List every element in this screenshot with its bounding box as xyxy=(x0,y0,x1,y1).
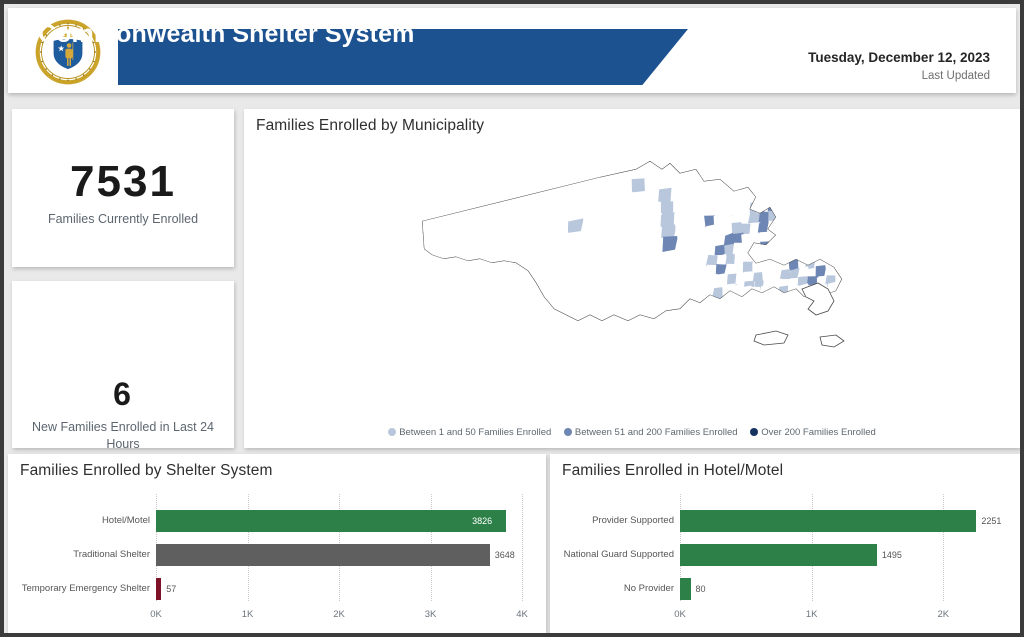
map-municipality[interactable] xyxy=(847,283,859,294)
map-municipality[interactable] xyxy=(820,335,844,347)
x-tick-label: 2K xyxy=(938,609,950,620)
legend-swatch-high-icon xyxy=(750,428,758,436)
bar-row[interactable]: Hotel/Motel3826 xyxy=(8,508,538,534)
map-municipality[interactable] xyxy=(787,219,797,230)
map-municipality[interactable] xyxy=(814,217,824,227)
legend-swatch-mid-icon xyxy=(564,428,572,436)
map-municipality[interactable] xyxy=(769,303,781,315)
map-municipality[interactable] xyxy=(446,181,461,193)
map-municipality[interactable] xyxy=(836,310,847,321)
map-municipality[interactable] xyxy=(784,189,795,201)
dashboard-header: Commonwealth Shelter System Tuesday, Dec… xyxy=(8,8,1016,93)
map-municipality[interactable] xyxy=(473,189,488,203)
map-municipality[interactable] xyxy=(769,313,780,324)
map-municipality[interactable] xyxy=(821,227,834,239)
chart-title: Families Enrolled by Shelter System xyxy=(20,462,272,480)
map-municipality[interactable] xyxy=(606,180,620,195)
map-municipality[interactable] xyxy=(512,176,528,190)
map-municipality[interactable] xyxy=(740,314,754,325)
map-municipality[interactable] xyxy=(706,235,716,247)
map-municipality[interactable] xyxy=(806,237,816,249)
map-municipality[interactable] xyxy=(557,244,573,259)
map-municipality[interactable] xyxy=(717,273,728,285)
map-municipality[interactable] xyxy=(779,295,790,305)
map-municipality[interactable] xyxy=(731,313,742,324)
bar-chart-hotel-motel[interactable]: Provider Supported2251National Guard Sup… xyxy=(550,488,1012,637)
legend-item: Between 51 and 200 Families Enrolled xyxy=(564,427,738,438)
bar[interactable] xyxy=(156,544,490,566)
map-municipality[interactable] xyxy=(779,302,790,313)
map-municipality[interactable] xyxy=(813,206,823,218)
map-municipality[interactable] xyxy=(802,209,814,221)
map-municipality[interactable] xyxy=(821,197,831,210)
map-municipality[interactable] xyxy=(804,197,815,209)
map-municipality[interactable] xyxy=(785,209,796,222)
bar-value-label: 80 xyxy=(696,576,706,602)
map-municipality[interactable] xyxy=(757,191,768,205)
map-municipality[interactable] xyxy=(804,227,817,239)
x-tick-label: 4K xyxy=(516,609,528,620)
map-municipality[interactable] xyxy=(775,200,787,213)
map-municipality[interactable] xyxy=(754,331,788,345)
map-municipality[interactable] xyxy=(607,204,621,219)
bar-row[interactable]: Traditional Shelter3648 xyxy=(8,542,538,568)
map-municipality[interactable] xyxy=(567,208,582,221)
x-tick-label: 0K xyxy=(150,609,162,620)
map-municipality[interactable] xyxy=(768,200,777,212)
map-municipality[interactable] xyxy=(477,250,493,263)
map-municipality[interactable] xyxy=(811,187,822,199)
map-municipality[interactable] xyxy=(797,320,811,331)
map-municipality[interactable] xyxy=(687,211,702,225)
map-municipality[interactable] xyxy=(788,248,800,260)
bar-category-label: National Guard Supported xyxy=(550,542,674,568)
map-municipality[interactable] xyxy=(814,247,825,258)
map-municipality[interactable] xyxy=(715,245,726,256)
map-municipality[interactable] xyxy=(751,303,761,314)
map-municipality[interactable] xyxy=(846,290,858,303)
map-municipality[interactable] xyxy=(823,246,836,258)
map-municipality[interactable] xyxy=(704,287,714,298)
map-municipality[interactable] xyxy=(835,291,847,302)
map-municipality[interactable] xyxy=(824,256,836,268)
map-municipality[interactable] xyxy=(460,192,475,205)
legend-item: Between 1 and 50 Families Enrolled xyxy=(388,427,551,438)
map-municipality[interactable] xyxy=(835,300,848,312)
map-municipality[interactable] xyxy=(462,227,478,241)
bar[interactable] xyxy=(680,544,877,566)
map-municipality[interactable] xyxy=(777,219,789,232)
map-municipality[interactable] xyxy=(551,184,567,199)
bar-row[interactable]: Provider Supported2251 xyxy=(550,508,1012,534)
map-municipality[interactable] xyxy=(788,239,798,249)
map-municipality[interactable] xyxy=(794,227,807,241)
bar-row[interactable]: Temporary Emergency Shelter57 xyxy=(8,576,538,602)
map-municipality[interactable] xyxy=(846,308,856,320)
bar[interactable] xyxy=(680,510,976,532)
kpi-label: New Families Enrolled in Last 24 Hours xyxy=(26,419,220,453)
map-municipality[interactable] xyxy=(621,204,636,218)
map-municipality[interactable] xyxy=(823,235,835,248)
map-municipality[interactable] xyxy=(644,178,659,192)
page-title: Commonwealth Shelter System xyxy=(38,20,414,49)
x-axis: 0K1K2K xyxy=(550,609,1012,623)
map-municipality[interactable] xyxy=(531,247,545,261)
map-municipality[interactable] xyxy=(419,181,434,196)
bar-value-label: 3648 xyxy=(495,542,515,568)
kpi-value: 7531 xyxy=(12,157,234,207)
map-municipality[interactable] xyxy=(780,249,790,260)
bar-row[interactable]: National Guard Supported1495 xyxy=(550,542,1012,568)
map-municipality[interactable] xyxy=(760,322,771,333)
map-municipality[interactable] xyxy=(826,320,838,331)
map-municipality[interactable] xyxy=(538,174,554,188)
map-municipality[interactable] xyxy=(820,207,833,220)
map-municipality[interactable] xyxy=(798,303,809,314)
map-municipality[interactable] xyxy=(815,237,825,249)
map-municipality[interactable] xyxy=(485,177,501,191)
map-panel: Families Enrolled by Municipality Betwee… xyxy=(244,109,1020,448)
map-municipality[interactable] xyxy=(722,324,734,334)
map-municipality[interactable] xyxy=(464,240,480,255)
bar-row[interactable]: No Provider80 xyxy=(550,576,1012,602)
map-municipality[interactable] xyxy=(723,296,734,308)
map-municipality[interactable] xyxy=(816,319,828,329)
legend-label: Over 200 Families Enrolled xyxy=(761,427,876,438)
kpi-value: 6 xyxy=(12,376,234,413)
dashboard-root: Commonwealth Shelter System Tuesday, Dec… xyxy=(0,0,1024,637)
bar[interactable] xyxy=(680,578,691,600)
x-tick-label: 0K xyxy=(674,609,686,620)
bar-category-label: Provider Supported xyxy=(550,508,674,534)
map-municipality[interactable] xyxy=(624,240,639,254)
map-municipality[interactable] xyxy=(595,242,611,256)
map-municipality[interactable] xyxy=(778,239,789,251)
map-municipality[interactable] xyxy=(760,295,770,307)
map-municipality[interactable] xyxy=(795,209,804,221)
map-municipality[interactable] xyxy=(776,211,788,223)
map-municipality[interactable] xyxy=(761,313,772,324)
map-municipality[interactable] xyxy=(608,229,624,242)
map-municipality[interactable] xyxy=(514,211,530,224)
x-axis: 0K1K2K3K4K xyxy=(8,609,538,623)
map-municipality[interactable] xyxy=(805,246,818,258)
bar-value-label: 2251 xyxy=(981,508,1001,534)
map-municipality[interactable] xyxy=(550,172,566,187)
map-municipality[interactable] xyxy=(476,225,491,240)
map-municipality[interactable] xyxy=(504,236,518,250)
map-municipality[interactable] xyxy=(420,194,436,210)
map-municipality[interactable] xyxy=(721,304,733,316)
map-legend: Between 1 and 50 Families Enrolled Betwe… xyxy=(244,427,1020,438)
map-municipality[interactable] xyxy=(569,231,585,246)
map-municipality[interactable] xyxy=(779,311,790,324)
bar[interactable] xyxy=(156,510,506,532)
map-municipality[interactable] xyxy=(713,323,724,336)
kpi-card-families-enrolled: 7531 Families Currently Enrolled xyxy=(12,109,234,267)
map-municipality[interactable] xyxy=(777,229,789,242)
last-updated-block: Tuesday, December 12, 2023 Last Updated xyxy=(730,50,990,86)
map-municipality[interactable] xyxy=(846,300,856,311)
map-municipality[interactable] xyxy=(423,230,438,243)
plot-area: Provider Supported2251National Guard Sup… xyxy=(550,494,1012,601)
map-municipality[interactable] xyxy=(759,304,772,313)
map-municipality[interactable] xyxy=(512,186,528,201)
map-municipality[interactable] xyxy=(789,321,800,332)
bar-value-label: 1495 xyxy=(882,542,902,568)
map-municipality[interactable] xyxy=(821,218,833,228)
map-municipality[interactable] xyxy=(774,189,785,203)
x-tick-label: 1K xyxy=(242,609,254,620)
map-municipality[interactable] xyxy=(637,238,651,254)
map-municipality[interactable] xyxy=(819,188,831,199)
map-municipality[interactable] xyxy=(814,226,825,239)
map-municipality[interactable] xyxy=(779,320,792,331)
map-municipality[interactable] xyxy=(648,213,662,228)
map-municipality[interactable] xyxy=(790,302,800,313)
x-tick-label: 1K xyxy=(806,609,818,620)
bar-category-label: Traditional Shelter xyxy=(8,542,150,568)
map-municipality[interactable] xyxy=(804,217,814,230)
map-municipality[interactable] xyxy=(702,325,713,335)
kpi-card-new-families-24h: 6 New Families Enrolled in Last 24 Hours xyxy=(12,281,234,448)
map-municipality[interactable] xyxy=(740,304,753,315)
map-municipality[interactable] xyxy=(472,178,487,193)
map-municipality[interactable] xyxy=(826,310,839,321)
map-municipality[interactable] xyxy=(784,199,795,211)
bar-value-label: 3826 xyxy=(472,508,492,534)
map-municipality[interactable] xyxy=(750,313,761,325)
map-municipality[interactable] xyxy=(564,172,580,185)
map-municipality[interactable] xyxy=(753,272,764,282)
x-tick-label: 3K xyxy=(425,609,437,620)
map-municipality[interactable] xyxy=(713,224,725,236)
map-municipality[interactable] xyxy=(731,297,744,308)
map-municipality[interactable] xyxy=(750,294,761,306)
massachusetts-choropleth-map[interactable] xyxy=(404,139,874,414)
map-municipality[interactable] xyxy=(760,241,771,252)
map-municipality[interactable] xyxy=(796,218,806,230)
map-municipality[interactable] xyxy=(518,247,533,261)
map-municipality[interactable] xyxy=(485,190,501,204)
map-municipality[interactable] xyxy=(740,322,752,335)
map-municipality[interactable] xyxy=(731,323,743,334)
map-municipality[interactable] xyxy=(498,177,514,191)
map-municipality[interactable] xyxy=(515,199,529,213)
map-municipality[interactable] xyxy=(732,305,743,315)
map-municipality[interactable] xyxy=(788,293,799,305)
map-municipality[interactable] xyxy=(846,318,857,330)
map-municipality[interactable] xyxy=(422,219,438,232)
map-municipality[interactable] xyxy=(836,319,847,328)
bar-category-label: No Provider xyxy=(550,576,674,602)
last-updated-caption: Last Updated xyxy=(730,66,990,86)
map-municipality[interactable] xyxy=(580,206,595,220)
map-municipality[interactable] xyxy=(793,188,803,201)
map-municipality[interactable] xyxy=(713,306,724,317)
map-municipality[interactable] xyxy=(795,237,808,250)
map-municipality[interactable] xyxy=(432,182,446,195)
bar-chart-shelter-system[interactable]: Hotel/Motel3826Traditional Shelter3648Te… xyxy=(8,488,538,637)
legend-item: Over 200 Families Enrolled xyxy=(750,427,876,438)
map-municipality[interactable] xyxy=(721,313,734,325)
bar[interactable] xyxy=(156,578,161,600)
map-municipality[interactable] xyxy=(712,314,724,326)
map-municipality[interactable] xyxy=(447,203,463,218)
map-municipality[interactable] xyxy=(811,197,824,209)
map-municipality[interactable] xyxy=(447,191,462,206)
map-municipality[interactable] xyxy=(704,316,716,327)
map-municipality[interactable] xyxy=(524,174,540,189)
map-municipality[interactable] xyxy=(789,310,799,323)
kpi-label: Families Currently Enrolled xyxy=(26,211,220,228)
bar-value-label: 57 xyxy=(166,576,176,602)
map-municipality[interactable] xyxy=(703,306,714,316)
map-municipality[interactable] xyxy=(807,319,819,331)
map-municipality[interactable] xyxy=(770,295,782,307)
map-municipality[interactable] xyxy=(786,229,797,240)
map-panel-title: Families Enrolled by Municipality xyxy=(256,117,484,135)
chart-title: Families Enrolled in Hotel/Motel xyxy=(562,462,783,480)
map-municipality[interactable] xyxy=(768,240,779,253)
map-municipality[interactable] xyxy=(486,202,501,214)
legend-label: Between 1 and 50 Families Enrolled xyxy=(399,427,551,438)
x-tick-label: 2K xyxy=(333,609,345,620)
map-municipality[interactable] xyxy=(797,249,808,260)
bar-category-label: Temporary Emergency Shelter xyxy=(8,576,150,602)
bar-category-label: Hotel/Motel xyxy=(8,508,150,534)
map-municipality[interactable] xyxy=(434,193,450,207)
map-municipality[interactable] xyxy=(803,189,814,200)
map-municipality[interactable] xyxy=(749,321,762,332)
map-municipality[interactable] xyxy=(438,253,452,267)
plot-area: Hotel/Motel3826Traditional Shelter3648Te… xyxy=(8,494,538,601)
last-updated-date: Tuesday, December 12, 2023 xyxy=(730,50,990,66)
map-municipality[interactable] xyxy=(798,312,810,323)
map-municipality[interactable] xyxy=(734,254,743,265)
legend-swatch-low-icon xyxy=(388,428,396,436)
chart-panel-shelter-system: Families Enrolled by Shelter System Hote… xyxy=(8,454,546,637)
legend-label: Between 51 and 200 Families Enrolled xyxy=(575,427,738,438)
map-municipality[interactable] xyxy=(567,196,582,210)
map-municipality[interactable] xyxy=(762,271,773,281)
chart-panel-hotel-motel: Families Enrolled in Hotel/Motel Provide… xyxy=(550,454,1020,637)
map-municipality[interactable] xyxy=(458,179,474,193)
map-municipality[interactable] xyxy=(765,192,776,203)
map-municipality[interactable] xyxy=(794,199,805,210)
